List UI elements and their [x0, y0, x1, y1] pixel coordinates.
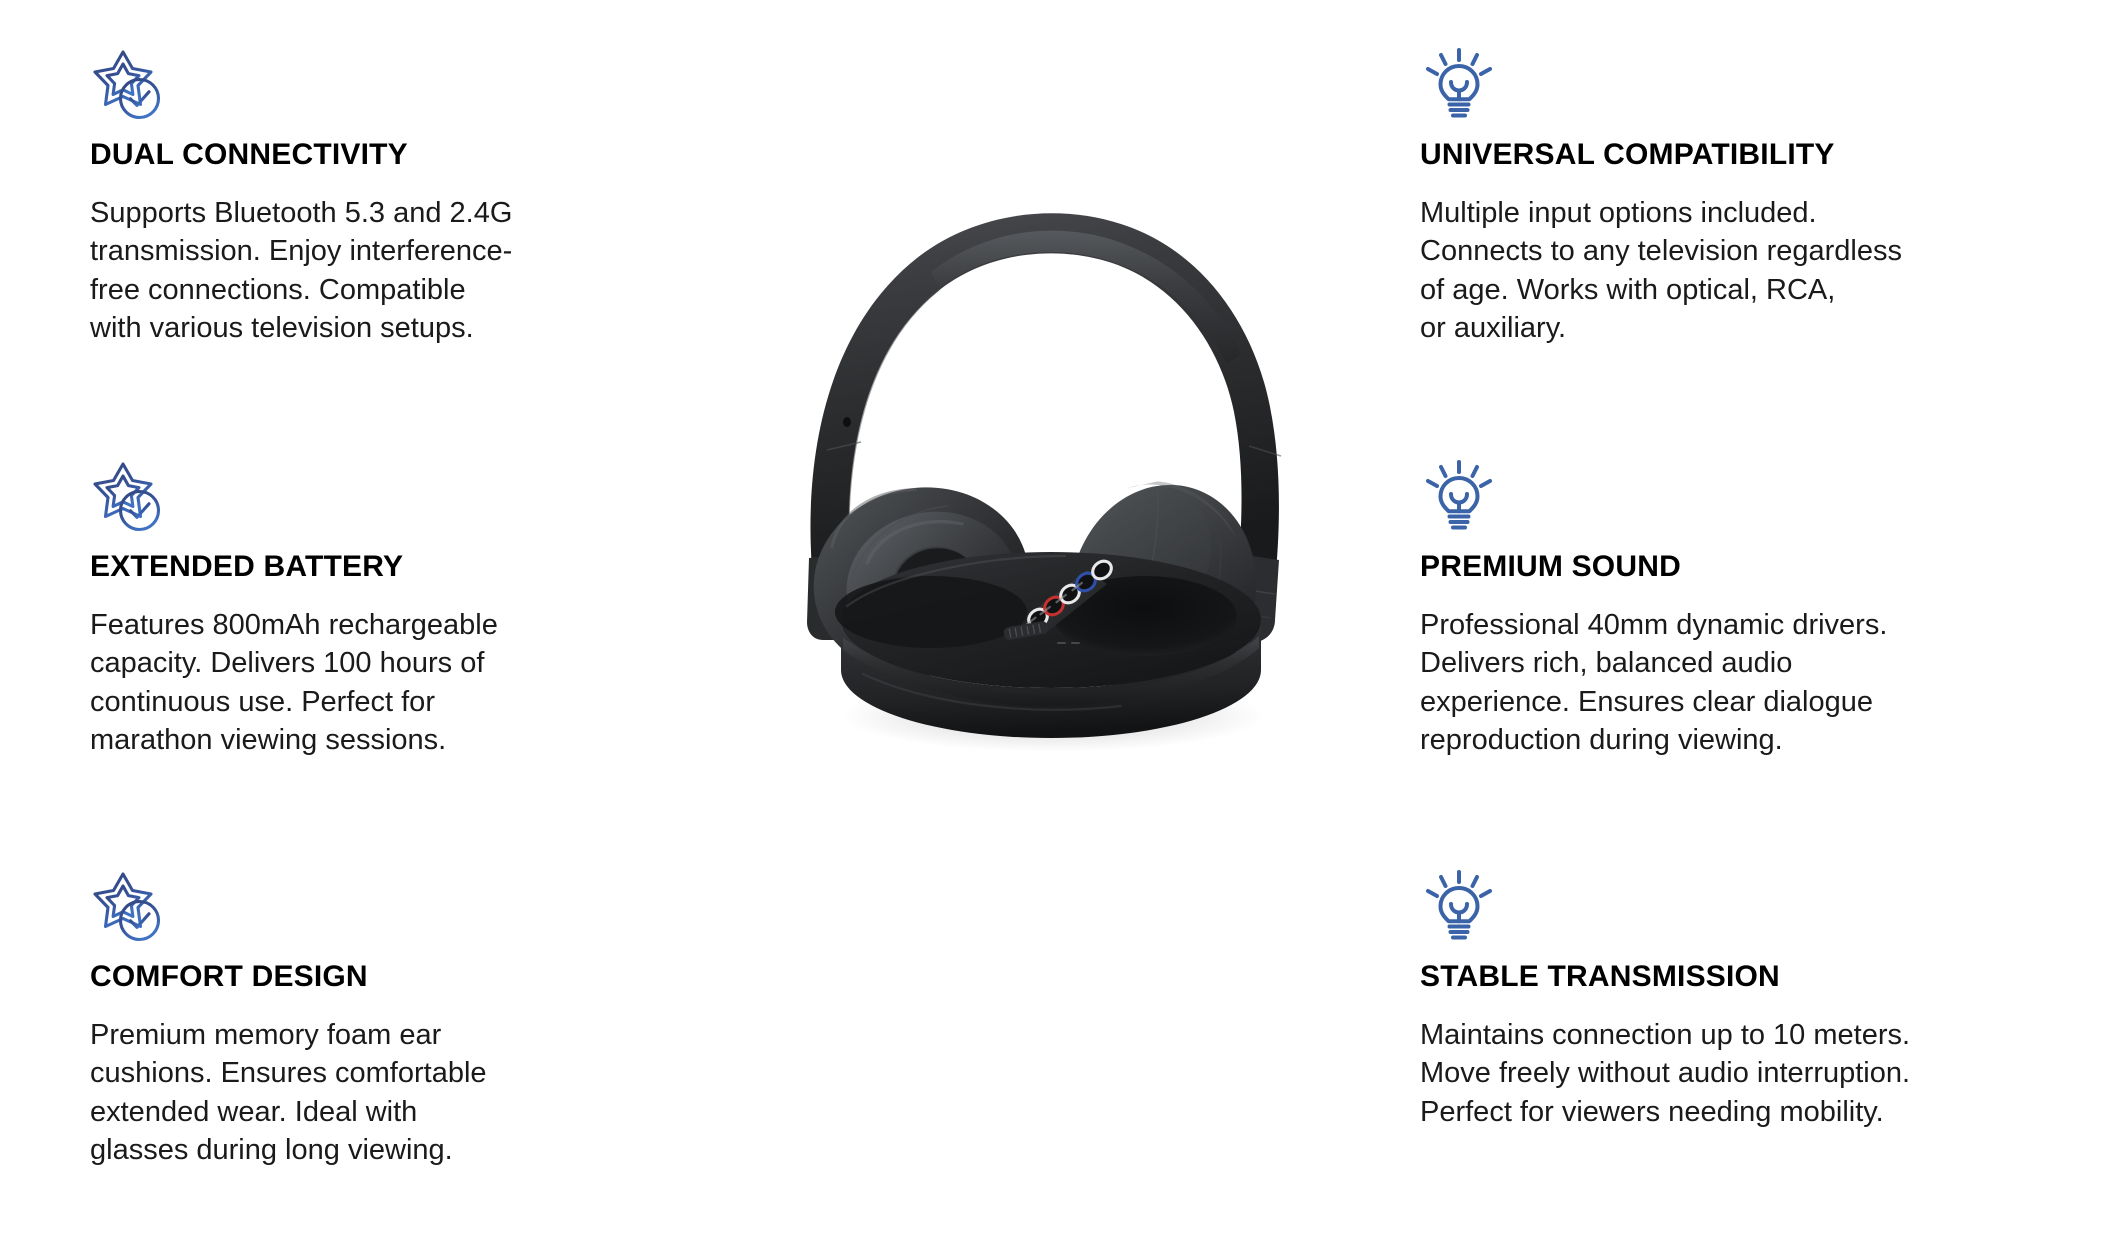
product-photo-headphones: [735, 150, 1365, 770]
feature-title: UNIVERSAL COMPATIBILITY: [1420, 138, 2080, 172]
feature-title: EXTENDED BATTERY: [90, 550, 710, 584]
feature-body: Multiple input options included. Connect…: [1420, 194, 2080, 348]
feature-title: PREMIUM SOUND: [1420, 550, 2080, 584]
feature-body: Maintains connection up to 10 meters. Mo…: [1420, 1016, 2080, 1132]
feature-title: DUAL CONNECTIVITY: [90, 138, 710, 172]
lightbulb-icon: [1420, 458, 1498, 536]
lightbulb-icon: [1420, 46, 1498, 124]
feature-title: COMFORT DESIGN: [90, 960, 710, 994]
feature-body: Professional 40mm dynamic drivers. Deliv…: [1420, 606, 2080, 760]
feature-block-universal-compatibility: UNIVERSAL COMPATIBILITY Multiple input o…: [1420, 46, 2080, 348]
infographic-page: DUAL CONNECTIVITY Supports Bluetooth 5.3…: [0, 0, 2112, 1260]
feature-body: Supports Bluetooth 5.3 and 2.4G transmis…: [90, 194, 710, 348]
feature-body: Premium memory foam ear cushions. Ensure…: [90, 1016, 710, 1170]
feature-block-dual-connectivity: DUAL CONNECTIVITY Supports Bluetooth 5.3…: [90, 46, 710, 348]
feature-block-stable-transmission: STABLE TRANSMISSION Maintains connection…: [1420, 868, 2080, 1131]
charging-dock-base: [835, 552, 1261, 738]
star-check-icon: [90, 458, 168, 536]
lightbulb-icon: [1420, 868, 1498, 946]
star-check-icon: [90, 46, 168, 124]
feature-title: STABLE TRANSMISSION: [1420, 960, 2080, 994]
feature-block-comfort-design: COMFORT DESIGN Premium memory foam ear c…: [90, 868, 710, 1170]
feature-body: Features 800mAh rechargeable capacity. D…: [90, 606, 710, 760]
feature-block-extended-battery: EXTENDED BATTERY Features 800mAh recharg…: [90, 458, 710, 760]
feature-block-premium-sound: PREMIUM SOUND Professional 40mm dynamic …: [1420, 458, 2080, 760]
star-check-icon: [90, 868, 168, 946]
left-feature-column: DUAL CONNECTIVITY Supports Bluetooth 5.3…: [90, 0, 710, 1260]
right-feature-column: UNIVERSAL COMPATIBILITY Multiple input o…: [1420, 0, 2080, 1260]
